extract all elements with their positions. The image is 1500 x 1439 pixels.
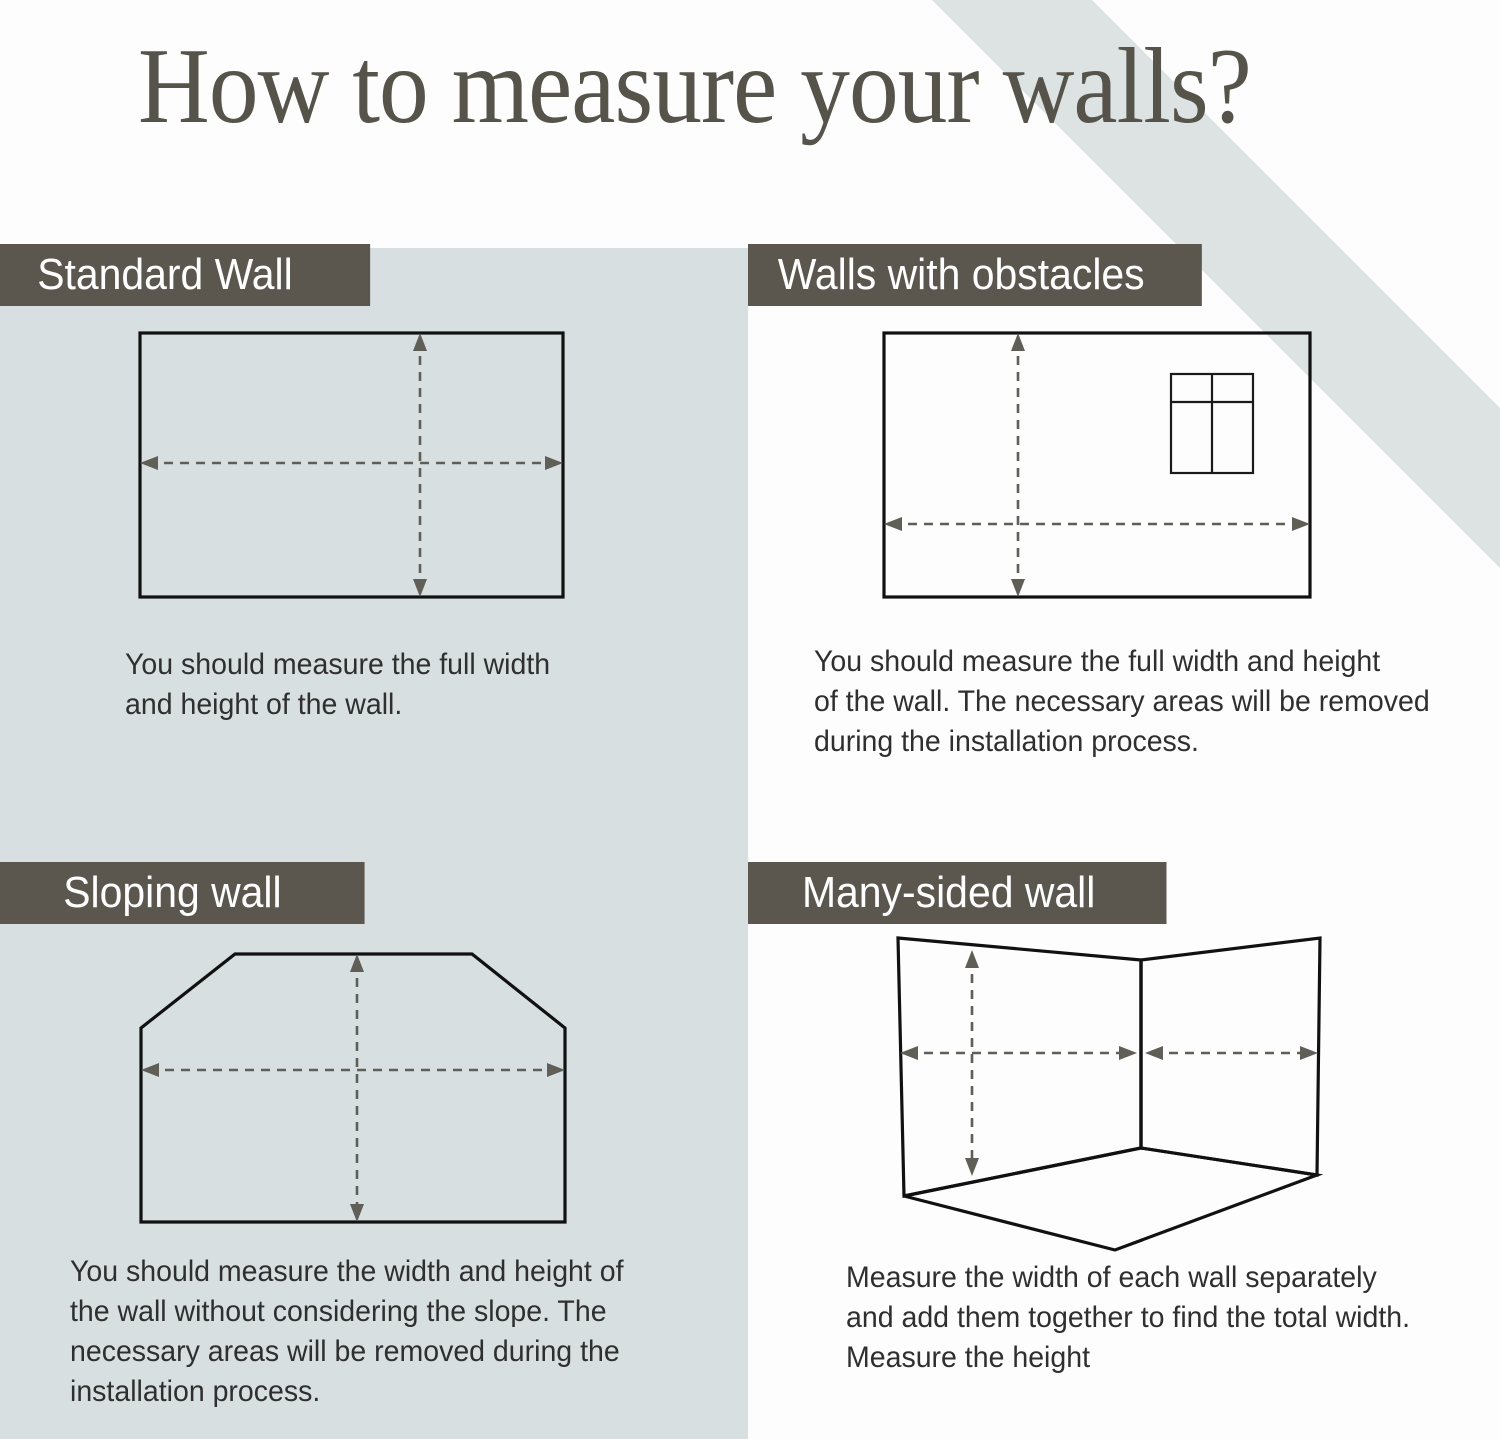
infographic-canvas: How to measure your walls? Standard Wall…	[0, 0, 1500, 1439]
section-heading-many-sided-wall: Many-sided wall	[748, 862, 1167, 924]
section-heading-standard-wall-label: Standard Wall	[37, 244, 293, 306]
many-sided-floor	[904, 1148, 1317, 1250]
page-title: How to measure your walls?	[138, 30, 1251, 144]
many-sided-height-arrow-up	[965, 950, 979, 968]
many-sided-right-wall	[1141, 938, 1320, 1175]
many-sided-left-wall	[898, 938, 1141, 1196]
many-sided-right-width-arrow-left	[1145, 1046, 1163, 1060]
many-sided-height-arrow-down	[965, 1158, 979, 1176]
many-sided-left-width-arrow-right	[1119, 1046, 1137, 1060]
section-body-many-sided-wall: Measure the width of each wall separatel…	[846, 1258, 1473, 1378]
many-sided-right-width-arrow-right	[1300, 1046, 1318, 1060]
section-body-sloping-wall: You should measure the width and height …	[70, 1252, 697, 1412]
section-heading-sloping-wall: Sloping wall	[0, 862, 365, 924]
section-heading-walls-with-obstacles: Walls with obstacles	[748, 244, 1202, 306]
section-heading-standard-wall: Standard Wall	[0, 244, 370, 306]
section-heading-walls-with-obstacles-label: Walls with obstacles	[778, 244, 1145, 306]
many-sided-left-width-arrow-left	[900, 1046, 918, 1060]
section-body-walls-with-obstacles: You should measure the full width and he…	[814, 642, 1479, 762]
section-body-standard-wall: You should measure the full width and he…	[125, 645, 733, 725]
section-heading-many-sided-wall-label: Many-sided wall	[802, 862, 1095, 924]
section-heading-sloping-wall-label: Sloping wall	[63, 862, 281, 924]
